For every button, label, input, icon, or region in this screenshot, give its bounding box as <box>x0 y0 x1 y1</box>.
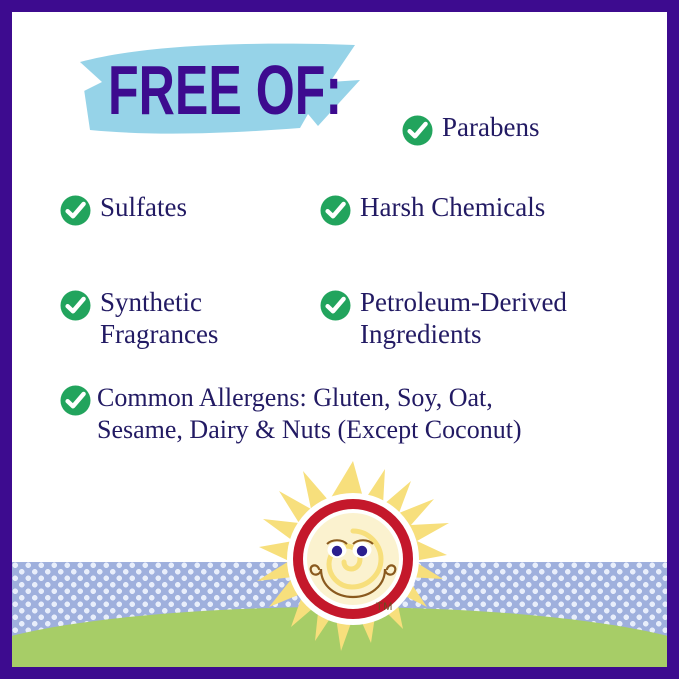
smiling-sun-logo <box>257 461 449 653</box>
green-check-circle-icon <box>320 290 351 321</box>
green-check-circle-icon <box>320 195 351 226</box>
checklist-item-label: Common Allergens: Gluten, Soy, Oat, Sesa… <box>97 382 522 445</box>
checklist-item-label: Sulfates <box>100 192 187 224</box>
trademark-mark: TM <box>376 601 393 613</box>
promo-graphic: FREE OF: Parabens Sulfates <box>0 0 679 679</box>
checklist-item-parabens: Parabens <box>402 112 539 146</box>
green-check-circle-icon <box>402 115 433 146</box>
checklist-item-label: Parabens <box>442 112 539 144</box>
checklist-item-label: Petroleum-Derived Ingredients <box>360 287 567 350</box>
sun-face <box>307 513 399 605</box>
sun-right-pupil <box>357 546 367 556</box>
sun-left-pupil <box>332 546 342 556</box>
checklist-item-petroleum-derived-ingredients: Petroleum-Derived Ingredients <box>320 287 567 350</box>
checklist-item-synthetic-fragrances: Synthetic Fragrances <box>60 287 218 350</box>
checklist-item-label: Synthetic Fragrances <box>100 287 218 350</box>
checklist-item-label: Harsh Chemicals <box>360 192 545 224</box>
green-check-circle-icon <box>60 195 91 226</box>
green-check-circle-icon <box>60 385 91 416</box>
content-panel: FREE OF: Parabens Sulfates <box>12 12 667 667</box>
green-check-circle-icon <box>60 290 91 321</box>
banner-title: FREE OF: <box>76 29 366 153</box>
checklist-item-common-allergens: Common Allergens: Gluten, Soy, Oat, Sesa… <box>60 382 522 445</box>
checklist-item-sulfates: Sulfates <box>60 192 187 226</box>
checklist-item-harsh-chemicals: Harsh Chemicals <box>320 192 545 226</box>
free-of-banner: FREE OF: <box>72 40 402 142</box>
